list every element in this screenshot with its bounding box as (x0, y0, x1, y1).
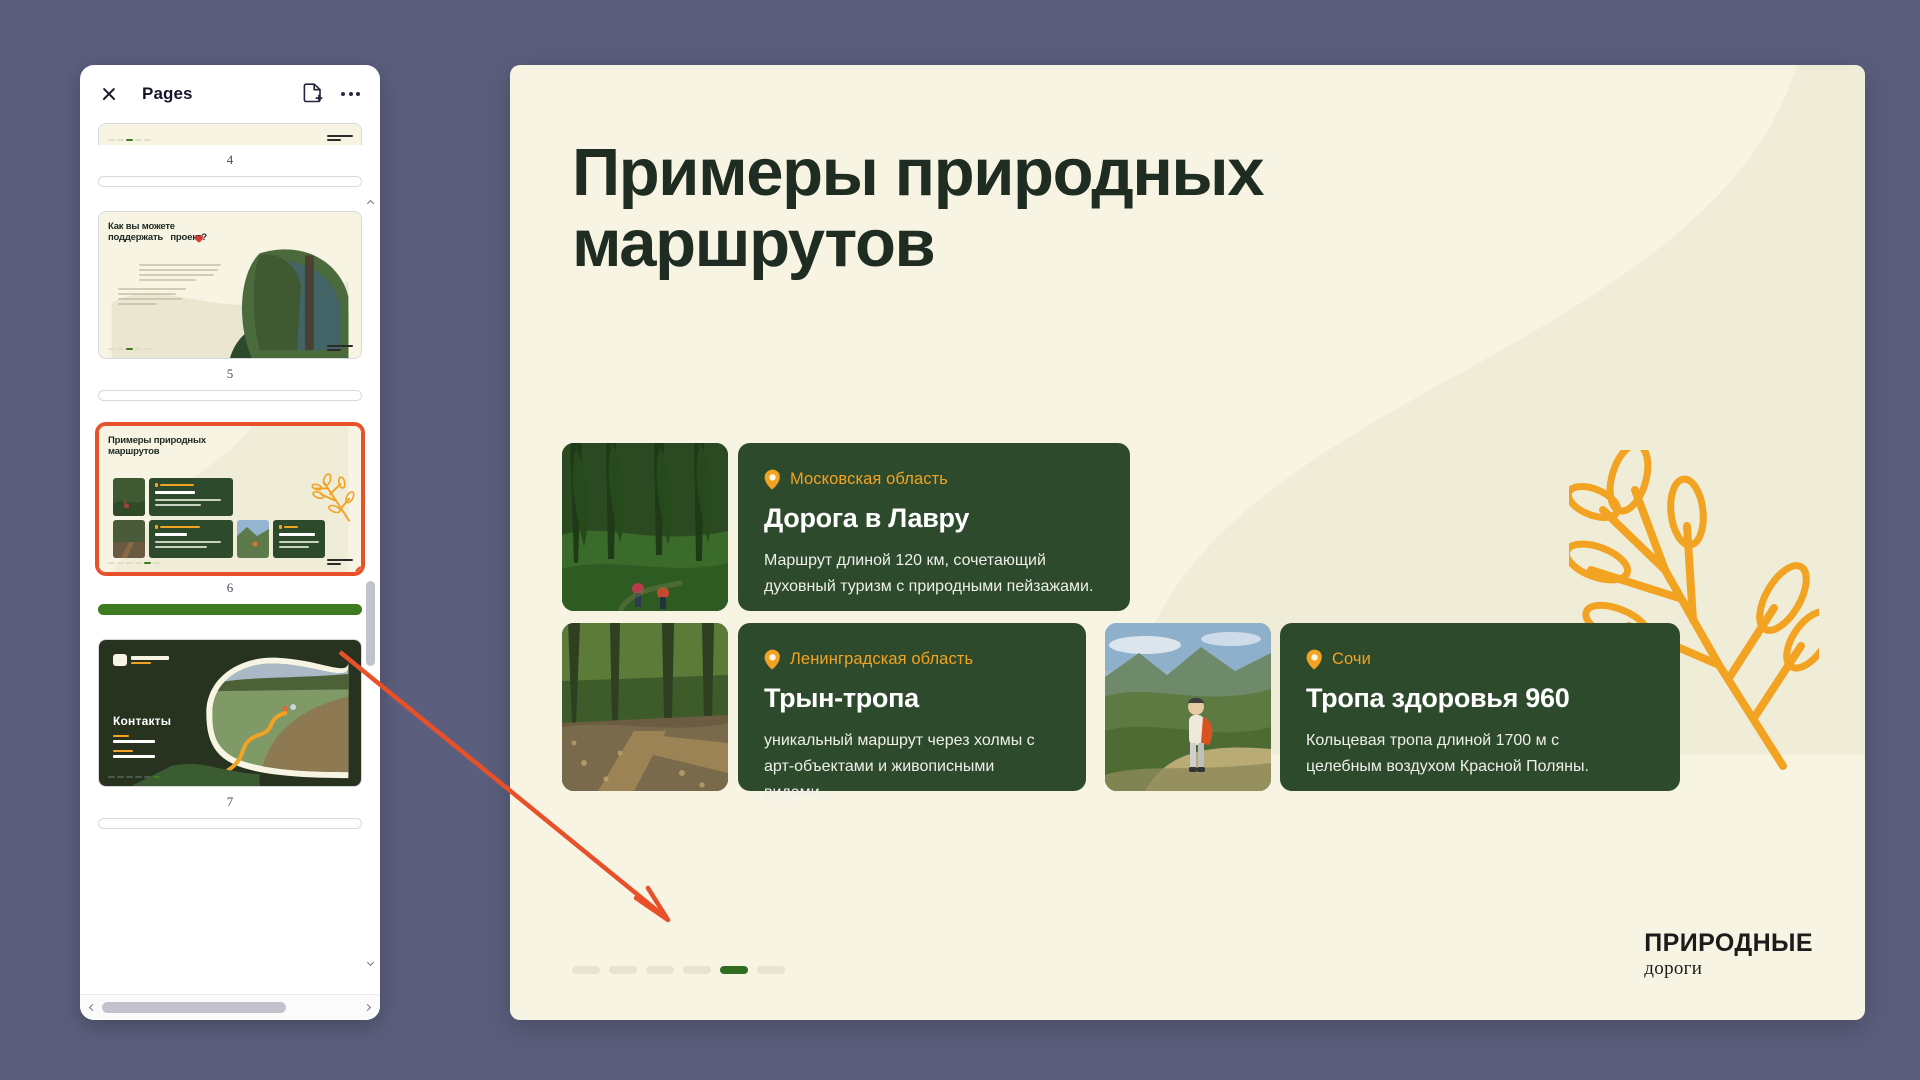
route-card-2[interactable]: Ленинградская область Трын-тропа уникаль… (738, 623, 1086, 791)
pages-panel-actions (303, 83, 362, 105)
insert-page-bar[interactable] (98, 818, 362, 829)
slide-canvas[interactable]: Примеры природных маршрутов (510, 65, 1865, 1020)
pagination-dot-5-active[interactable] (720, 966, 748, 974)
pages-panel-title: Pages (142, 84, 193, 104)
insert-page-bar-active[interactable] (98, 604, 362, 615)
route-description-2: уникальный маршрут через холмы с арт-объ… (764, 728, 1058, 806)
app-root: Pages (0, 0, 1920, 1080)
brand-logo-line2: дороги (1644, 959, 1813, 978)
list-item: 4 (98, 123, 362, 187)
route-name-3: Тропа здоровья 960 (1306, 684, 1652, 714)
location-pin-icon (764, 469, 781, 490)
slide-pagination-dots[interactable] (572, 966, 785, 974)
scroll-thumb-horizontal[interactable] (102, 1002, 286, 1013)
list-item: Примеры природныхмаршрутов (98, 425, 362, 615)
page-number-label: 4 (98, 145, 362, 176)
insert-page-bar[interactable] (98, 176, 362, 187)
pagination-dot-1[interactable] (572, 966, 600, 974)
scroll-down-icon[interactable] (364, 956, 377, 970)
page-thumbnail-6[interactable]: Примеры природныхмаршрутов (98, 425, 362, 573)
route-photo-1 (562, 443, 728, 611)
route-region-label-3: Сочи (1332, 650, 1371, 669)
page-thumbnail-7[interactable]: Контакты (98, 639, 362, 787)
list-item: Контакты 7 (98, 639, 362, 829)
more-options-icon[interactable] (339, 86, 362, 102)
pages-vertical-scrollbar[interactable] (364, 211, 377, 952)
pages-panel-header: Pages (80, 65, 380, 123)
route-region-label-2: Ленинградская область (790, 650, 973, 669)
page-number-label: 6 (98, 573, 362, 604)
route-region-2: Ленинградская область (764, 649, 1058, 670)
location-pin-icon (764, 649, 781, 670)
page-title: Примеры природных маршрутов (572, 137, 1263, 279)
pagination-dot-6[interactable] (757, 966, 785, 974)
pages-thumbnail-list[interactable]: 4 (80, 123, 380, 992)
page-number-label: 7 (98, 787, 362, 818)
insert-page-bar[interactable] (98, 390, 362, 401)
location-pin-icon (1306, 649, 1323, 670)
brand-logo-line1: ПРИРОДНЫЕ (1644, 931, 1813, 956)
list-item: Как вы можетеподдержать проект? (98, 211, 362, 401)
scroll-track-horizontal[interactable] (102, 1002, 358, 1013)
route-photo-2 (562, 623, 728, 791)
route-region-label-1: Московская область (790, 470, 948, 489)
route-description-3: Кольцевая тропа длиной 1700 м с целебным… (1306, 728, 1636, 780)
pages-horizontal-scrollbar[interactable] (80, 994, 380, 1020)
pages-panel: Pages (80, 65, 380, 1020)
route-name-1: Дорога в Лавру (764, 504, 1102, 534)
route-card-1[interactable]: Московская область Дорога в Лавру Маршру… (738, 443, 1130, 611)
page-thumbnail-5[interactable]: Как вы можетеподдержать проект? (98, 211, 362, 359)
page-thumbnail-4[interactable] (98, 123, 362, 145)
scroll-thumb[interactable] (366, 581, 375, 666)
route-description-1: Маршрут длиной 120 км, сочетающий духовн… (764, 548, 1094, 600)
route-card-3[interactable]: Сочи Тропа здоровья 960 Кольцевая тропа … (1280, 623, 1680, 791)
scroll-left-icon[interactable] (80, 1005, 102, 1010)
scroll-track[interactable] (364, 211, 377, 952)
page-number-label: 5 (98, 359, 362, 390)
route-name-2: Трын-тропа (764, 684, 1058, 714)
scroll-right-icon[interactable] (358, 1005, 380, 1010)
route-region-3: Сочи (1306, 649, 1652, 670)
close-icon[interactable] (98, 83, 120, 105)
pagination-dot-3[interactable] (646, 966, 674, 974)
route-photo-3 (1105, 623, 1271, 791)
add-page-icon[interactable] (303, 83, 323, 105)
pagination-dot-2[interactable] (609, 966, 637, 974)
brand-logo: ПРИРОДНЫЕ дороги (1644, 931, 1813, 978)
route-region-1: Московская область (764, 469, 1102, 490)
scroll-up-icon[interactable] (364, 195, 377, 209)
pagination-dot-4[interactable] (683, 966, 711, 974)
